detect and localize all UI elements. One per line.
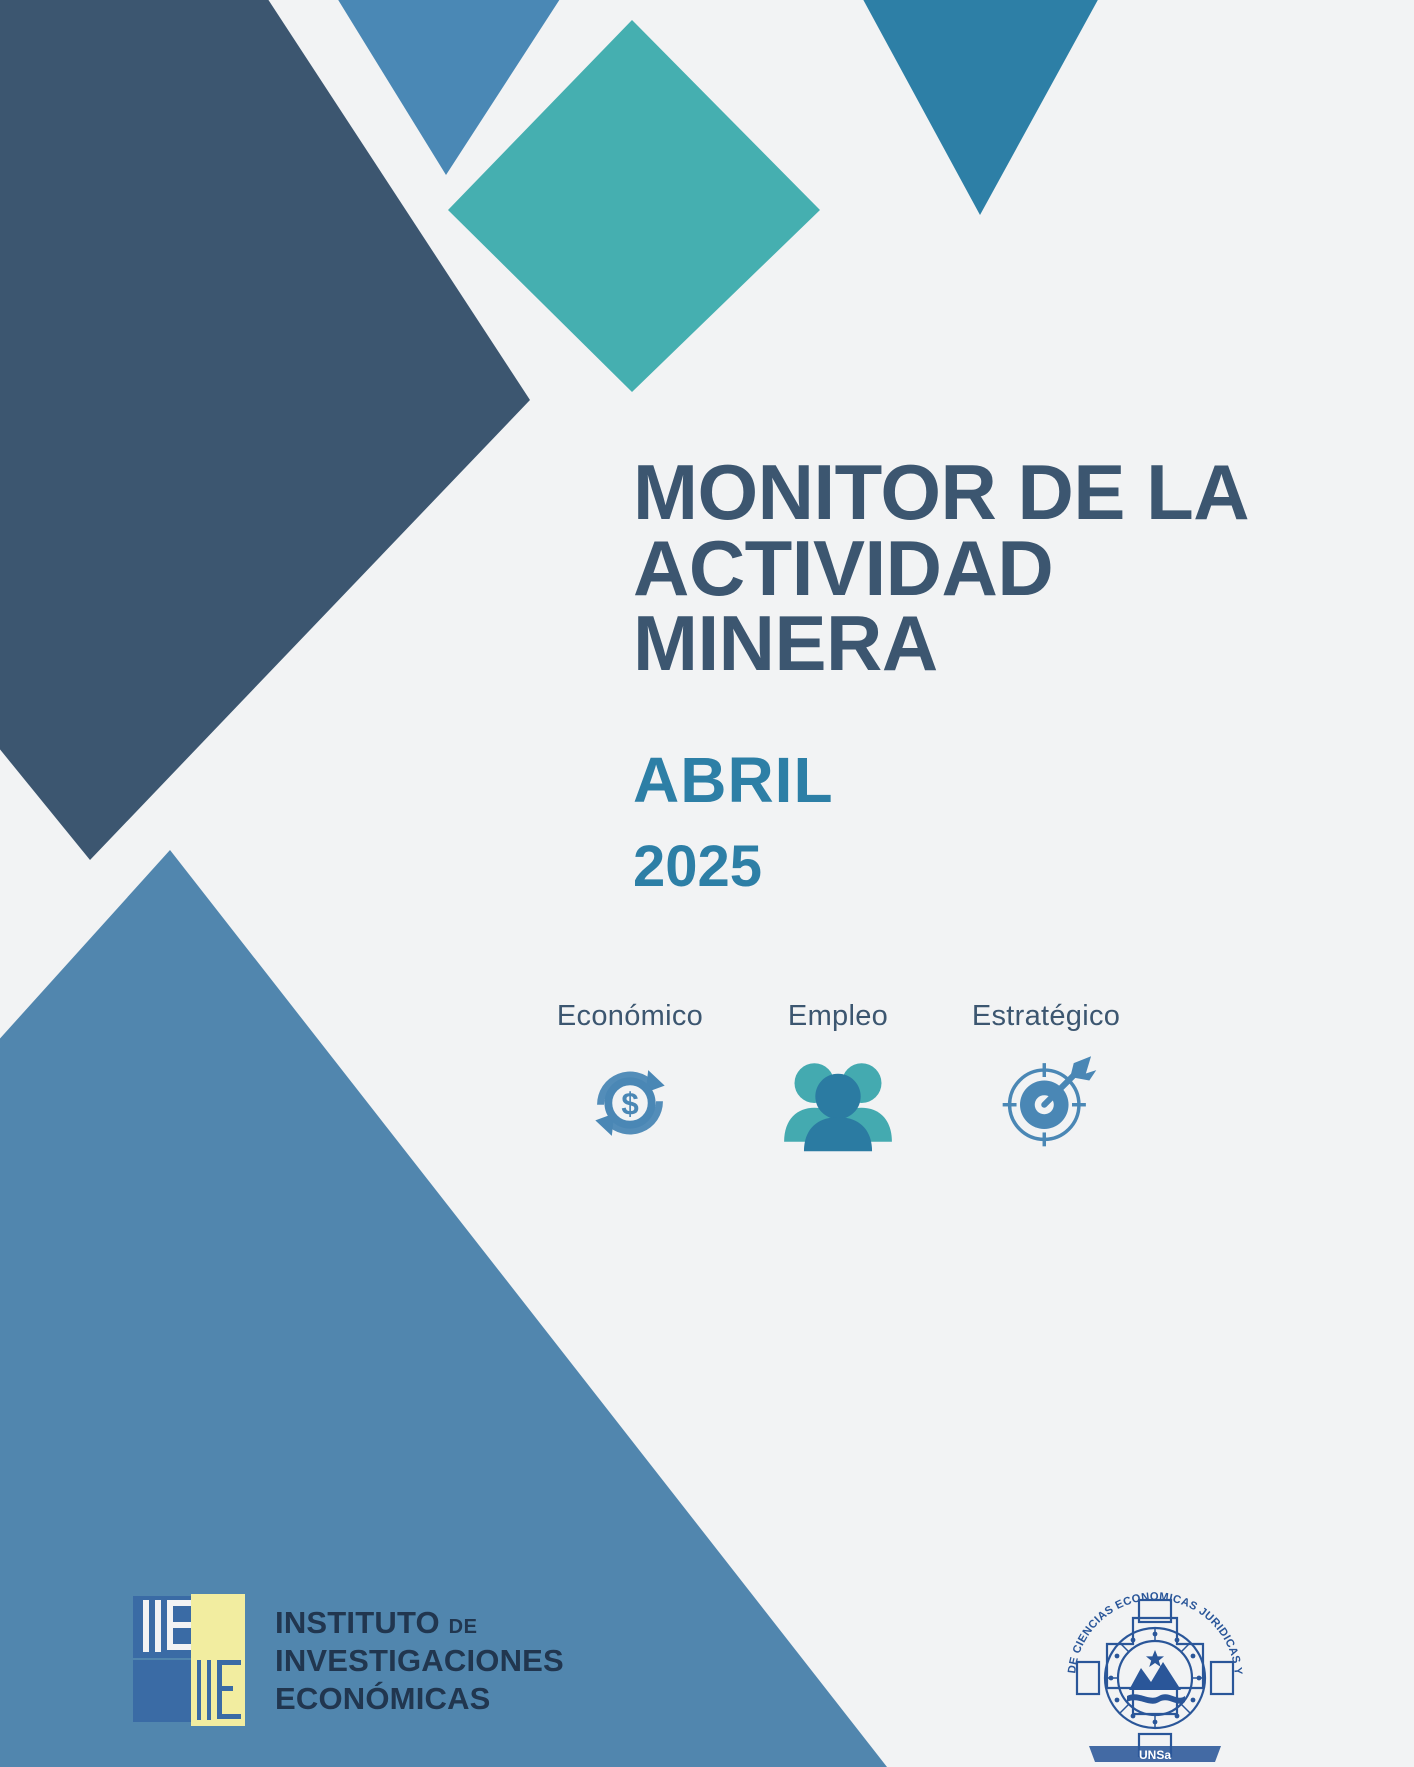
navy-diamond-shape	[0, 0, 530, 860]
institute-line-2: INVESTIGACIONES	[275, 1642, 564, 1680]
svg-text:$: $	[621, 1086, 638, 1121]
seal-acronym: UNSa	[1139, 1748, 1171, 1762]
pillars-row: Económico $	[535, 1000, 1155, 1157]
pillar-label: Empleo	[788, 1000, 888, 1033]
issue-year: 2025	[633, 838, 1333, 896]
institute-logo: INSTITUTO DE INVESTIGACIONES ECONÓMICAS	[131, 1592, 564, 1730]
currency-cycle-icon: $	[555, 1049, 705, 1157]
institute-line-3: ECONÓMICAS	[275, 1680, 564, 1718]
issue-month: ABRIL	[633, 748, 1333, 812]
deep-teal-triangle	[782, 0, 1180, 215]
institute-line-1-suffix: DE	[449, 1616, 478, 1638]
pillar-label: Estratégico	[972, 1000, 1120, 1033]
pillar-empleo: Empleo	[743, 1000, 933, 1157]
title-block: MONITOR DE LA ACTIVIDAD MINERA ABRIL 202…	[633, 455, 1333, 896]
institute-line-1: INSTITUTO	[275, 1605, 440, 1640]
unsa-faculty-seal-icon: FACULTAD DE CIENCIAS ECONOMICAS JURIDICA…	[1055, 1578, 1255, 1767]
cover-page: MONITOR DE LA ACTIVIDAD MINERA ABRIL 202…	[0, 0, 1414, 1767]
pillar-label: Económico	[557, 1000, 703, 1033]
iie-monogram-icon	[131, 1592, 253, 1730]
title-line-3: MINERA	[633, 599, 938, 687]
people-group-icon	[763, 1049, 913, 1157]
teal-diamond	[448, 20, 820, 392]
pillar-economico: Económico $	[535, 1000, 725, 1157]
page-title: MONITOR DE LA ACTIVIDAD MINERA	[633, 455, 1333, 682]
institute-logo-text: INSTITUTO DE INVESTIGACIONES ECONÓMICAS	[275, 1604, 564, 1717]
pillar-estrategico: Estratégico	[951, 1000, 1141, 1157]
target-arrow-icon	[971, 1049, 1121, 1157]
steel-blue-triangle	[252, 0, 650, 175]
